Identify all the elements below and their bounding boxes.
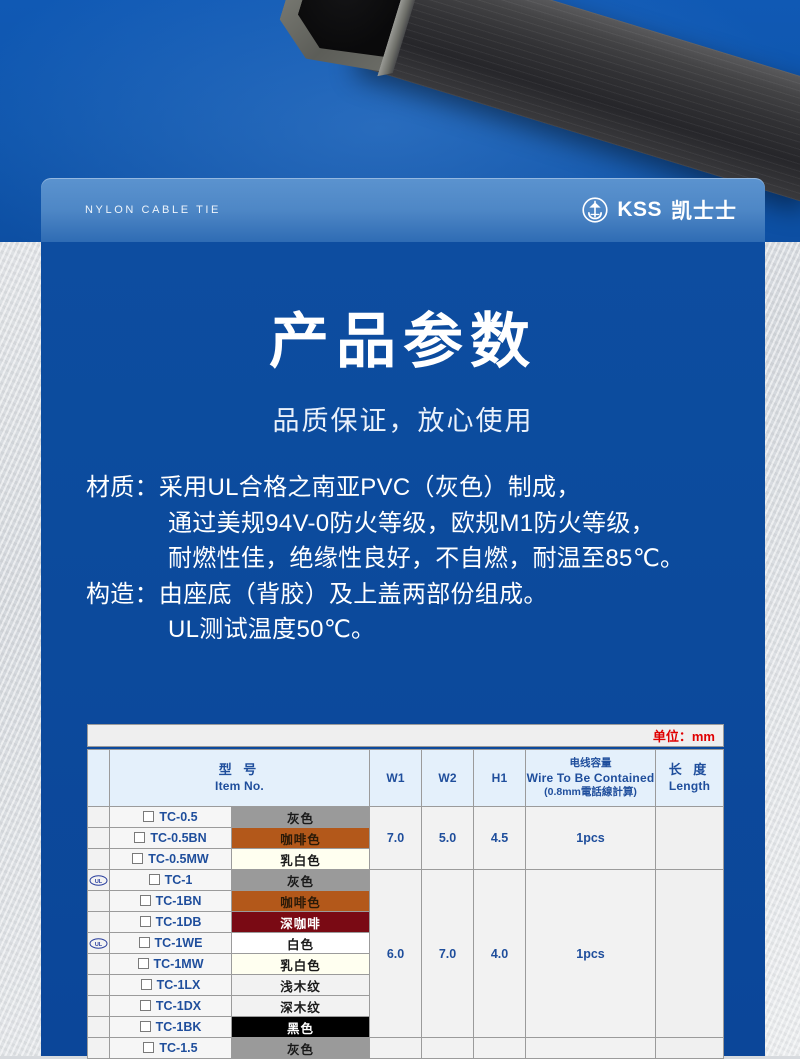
cell-model[interactable]: TC-0.5MW — [110, 849, 232, 870]
cell-color-swatch: 白色 — [232, 933, 370, 954]
cell-w2: 7.0 — [422, 870, 474, 1038]
col-h1-label: H1 — [474, 771, 525, 786]
col-h1: H1 — [474, 750, 526, 807]
spec-line: 耐燃性佳，绝缘性良好，不自燃，耐温至85℃。 — [86, 541, 746, 577]
col-model: 型 号 Item No. — [110, 750, 370, 807]
col-length: 长 度 Length — [656, 750, 724, 807]
section-ribbon: NYLON CABLE TIE KSS 凯士士 — [41, 178, 765, 242]
cell-model[interactable]: TC-1BK — [110, 1017, 232, 1038]
spec-description: 材质： 采用UL合格之南亚PVC（灰色）制成， 通过美规94V-0防火等级，欧规… — [86, 470, 746, 648]
col-model-cn: 型 号 — [110, 762, 369, 778]
cell-color-swatch: 乳白色 — [232, 954, 370, 975]
cell-capacity: 1pcs — [526, 870, 656, 1038]
cell-model[interactable]: TC-1LX — [110, 975, 232, 996]
model-label: TC-0.5 — [159, 810, 197, 824]
cell-ul — [88, 996, 110, 1017]
row-checkbox[interactable] — [138, 958, 149, 969]
row-checkbox[interactable] — [134, 832, 145, 843]
cell-ul: UL — [88, 870, 110, 891]
col-w2-label: W2 — [422, 771, 473, 786]
cell-w1 — [370, 1038, 422, 1059]
model-label: TC-1 — [165, 873, 193, 887]
col-w1: W1 — [370, 750, 422, 807]
model-label: TC-1BN — [156, 894, 202, 908]
cell-h1: 4.5 — [474, 807, 526, 870]
brand-cn: 凯士士 — [671, 195, 737, 225]
spec-line: 由座底（背胶）及上盖两部份组成。 — [159, 581, 548, 608]
row-checkbox[interactable] — [140, 916, 151, 927]
ul-listed-icon: UL — [89, 938, 108, 949]
cell-ul — [88, 912, 110, 933]
page-background: 产品参数 品质保证，放心使用 材质： 采用UL合格之南亚PVC（灰色）制成， 通… — [0, 0, 800, 1056]
cell-ul: UL — [88, 933, 110, 954]
spec-label-structure: 构造： — [86, 577, 159, 613]
spec-table-body: TC-0.5灰色7.05.04.51pcsTC-0.5BN咖啡色TC-0.5MW… — [88, 807, 724, 1059]
table-row: ULTC-1灰色6.07.04.01pcs — [88, 870, 724, 891]
row-checkbox[interactable] — [140, 1021, 151, 1032]
cell-h1 — [474, 1038, 526, 1059]
spec-value-material: 采用UL合格之南亚PVC（灰色）制成， — [159, 470, 746, 506]
page-subtitle: 品质保证，放心使用 — [41, 399, 765, 438]
unit-note: 单位：mm — [653, 726, 715, 745]
col-model-en: Item No. — [110, 779, 369, 794]
spec-line: UL测试温度50℃。 — [86, 612, 746, 648]
col-length-cn: 长 度 — [656, 762, 723, 778]
col-w2: W2 — [422, 750, 474, 807]
row-checkbox[interactable] — [149, 874, 160, 885]
cell-color-swatch: 深木纹 — [232, 996, 370, 1017]
ribbon-kicker: NYLON CABLE TIE — [85, 204, 221, 216]
cell-ul — [88, 954, 110, 975]
col-capacity-sub: (0.8mm電話線計算) — [526, 786, 655, 799]
cell-color-swatch: 灰色 — [232, 1038, 370, 1059]
cell-w2 — [422, 1038, 474, 1059]
spec-value-structure: 由座底（背胶）及上盖两部份组成。 — [159, 577, 746, 613]
cell-ul — [88, 891, 110, 912]
table-row: TC-0.5灰色7.05.04.51pcs — [88, 807, 724, 828]
cell-ul — [88, 975, 110, 996]
cell-model[interactable]: TC-1DB — [110, 912, 232, 933]
spec-line: 通过美规94V-0防火等级，欧规M1防火等级， — [86, 506, 746, 542]
col-ul — [88, 750, 110, 807]
row-checkbox[interactable] — [140, 895, 151, 906]
cell-w2: 5.0 — [422, 807, 474, 870]
cell-capacity: 1pcs — [526, 807, 656, 870]
col-capacity-cn: 电线容量 — [526, 757, 655, 770]
model-label: TC-1MW — [154, 957, 204, 971]
spec-table: 型 号 Item No. W1 W2 H1 电线容 — [87, 749, 724, 1059]
model-label: TC-1BK — [156, 1020, 202, 1034]
cell-length — [656, 1038, 724, 1059]
cell-ul — [88, 1017, 110, 1038]
col-capacity: 电线容量 Wire To Be Contained (0.8mm電話線計算) — [526, 750, 656, 807]
cell-capacity — [526, 1038, 656, 1059]
cell-ul — [88, 828, 110, 849]
cell-length — [656, 870, 724, 1038]
brand-lockup: KSS 凯士士 — [582, 195, 737, 225]
table-row: TC-1.5灰色 — [88, 1038, 724, 1059]
cell-model[interactable]: TC-1WE — [110, 933, 232, 954]
col-capacity-en: Wire To Be Contained — [526, 771, 655, 786]
model-label: TC-1DX — [156, 999, 201, 1013]
svg-text:UL: UL — [95, 879, 103, 885]
cell-model[interactable]: TC-1DX — [110, 996, 232, 1017]
page-title: 产品参数 — [41, 312, 765, 372]
model-label: TC-0.5MW — [148, 852, 208, 866]
cell-model[interactable]: TC-0.5 — [110, 807, 232, 828]
model-label: TC-0.5BN — [150, 831, 206, 845]
cell-model[interactable]: TC-1 — [110, 870, 232, 891]
cell-color-swatch: 咖啡色 — [232, 828, 370, 849]
cell-ul — [88, 807, 110, 828]
model-label: TC-1.5 — [159, 1041, 197, 1055]
cell-color-swatch: 黑色 — [232, 1017, 370, 1038]
col-length-en: Length — [656, 779, 723, 794]
cell-w1: 6.0 — [370, 870, 422, 1038]
kss-anchor-emblem-icon — [582, 197, 608, 223]
cell-model[interactable]: TC-1BN — [110, 891, 232, 912]
cell-model[interactable]: TC-1.5 — [110, 1038, 232, 1059]
row-checkbox[interactable] — [143, 811, 154, 822]
col-w1-label: W1 — [370, 771, 421, 786]
spec-label-material: 材质： — [86, 470, 159, 506]
cell-color-swatch: 灰色 — [232, 870, 370, 891]
cell-model[interactable]: TC-0.5BN — [110, 828, 232, 849]
content-panel: 产品参数 品质保证，放心使用 材质： 采用UL合格之南亚PVC（灰色）制成， 通… — [41, 242, 765, 1056]
row-checkbox[interactable] — [143, 1042, 154, 1053]
spec-line: 采用UL合格之南亚PVC（灰色）制成， — [159, 474, 581, 501]
cell-ul — [88, 1038, 110, 1059]
spec-table-container: 单位：mm 型 号 Item No. W1 — [87, 724, 724, 1059]
cell-w1: 7.0 — [370, 807, 422, 870]
cell-color-swatch: 灰色 — [232, 807, 370, 828]
row-checkbox[interactable] — [132, 853, 143, 864]
cell-color-swatch: 浅木纹 — [232, 975, 370, 996]
cell-length — [656, 807, 724, 870]
cell-h1: 4.0 — [474, 870, 526, 1038]
spec-table-header: 型 号 Item No. W1 W2 H1 电线容 — [88, 750, 724, 807]
cell-color-swatch: 乳白色 — [232, 849, 370, 870]
row-checkbox[interactable] — [139, 937, 150, 948]
row-checkbox[interactable] — [141, 979, 152, 990]
spec-block-material: 材质： 采用UL合格之南亚PVC（灰色）制成， — [86, 470, 746, 506]
brand-latin: KSS — [617, 198, 662, 222]
cell-color-swatch: 咖啡色 — [232, 891, 370, 912]
ul-listed-icon: UL — [89, 875, 108, 886]
cell-ul — [88, 849, 110, 870]
model-label: TC-1DB — [156, 915, 202, 929]
row-checkbox[interactable] — [140, 1000, 151, 1011]
unit-bar: 单位：mm — [87, 724, 724, 747]
spec-block-structure: 构造： 由座底（背胶）及上盖两部份组成。 — [86, 577, 746, 613]
svg-text:UL: UL — [95, 942, 103, 948]
cell-color-swatch: 深咖啡 — [232, 912, 370, 933]
model-label: TC-1WE — [155, 936, 203, 950]
cell-model[interactable]: TC-1MW — [110, 954, 232, 975]
model-label: TC-1LX — [157, 978, 201, 992]
